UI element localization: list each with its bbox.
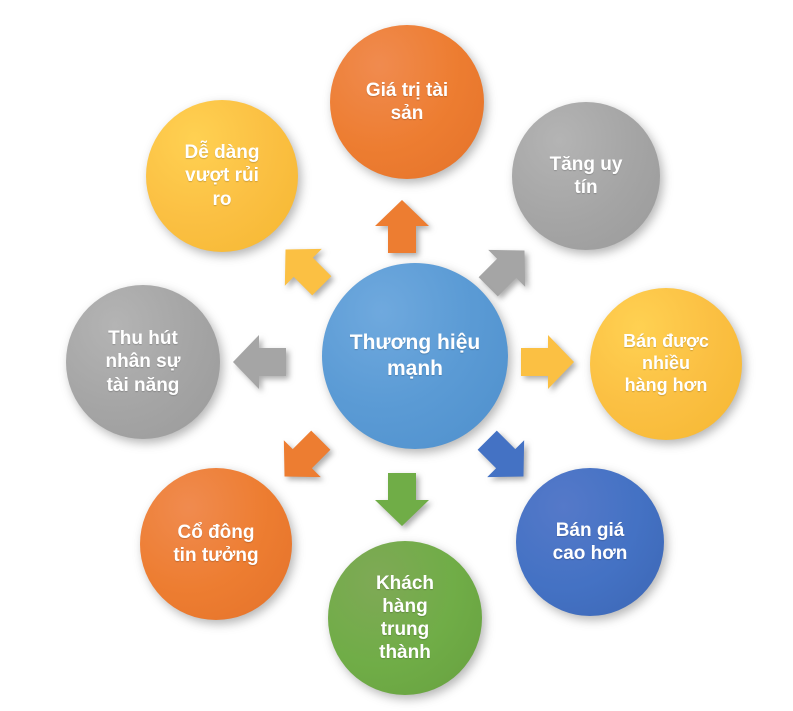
- node-tang-uy-tin[interactable]: Tăng uy tín: [512, 102, 660, 250]
- arrow-right-icon: [516, 331, 578, 393]
- node-label: Giá trị tài sản: [366, 79, 448, 125]
- node-label: Tăng uy tín: [550, 153, 623, 199]
- node-khach-hang-trung-thanh[interactable]: Khách hàng trung thành: [328, 541, 482, 695]
- node-label: Khách hàng trung thành: [376, 572, 434, 665]
- node-ban-duoc-nhieu-hang-hon[interactable]: Bán được nhiều hàng hơn: [590, 288, 742, 440]
- arrow-down-icon: [371, 468, 433, 530]
- node-de-dang-vuot-rui-ro[interactable]: Dễ dàng vượt rủi ro: [146, 100, 298, 252]
- node-gia-tri-tai-san[interactable]: Giá trị tài sản: [330, 25, 484, 179]
- arrow-up-right-icon: [476, 239, 536, 299]
- node-label: Bán giá cao hơn: [553, 519, 628, 565]
- arrow-down-left-icon: [273, 428, 333, 488]
- arrow-up-left-icon: [274, 238, 334, 298]
- node-thu-hut-nhan-su-tai-nang[interactable]: Thu hút nhân sự tài năng: [66, 285, 220, 439]
- node-ban-gia-cao-hon[interactable]: Bán giá cao hơn: [516, 468, 664, 616]
- node-co-dong-tin-tuong[interactable]: Cổ đông tin tưởng: [140, 468, 292, 620]
- node-center-thuong-hieu-manh[interactable]: Thương hiệu mạnh: [322, 263, 508, 449]
- arrow-down-right-icon: [475, 428, 535, 488]
- center-label: Thương hiệu mạnh: [328, 330, 502, 381]
- arrow-up-icon: [371, 196, 433, 258]
- node-label: Dễ dàng vượt rủi ro: [185, 141, 260, 211]
- node-label: Bán được nhiều hàng hơn: [623, 331, 709, 397]
- arrow-left-icon: [229, 331, 291, 393]
- node-label: Cổ đông tin tưởng: [173, 521, 258, 567]
- node-label: Thu hút nhân sự tài năng: [106, 327, 181, 397]
- radial-diagram: Giá trị tài sản Tăng uy tín Bán được nhi…: [0, 0, 793, 711]
